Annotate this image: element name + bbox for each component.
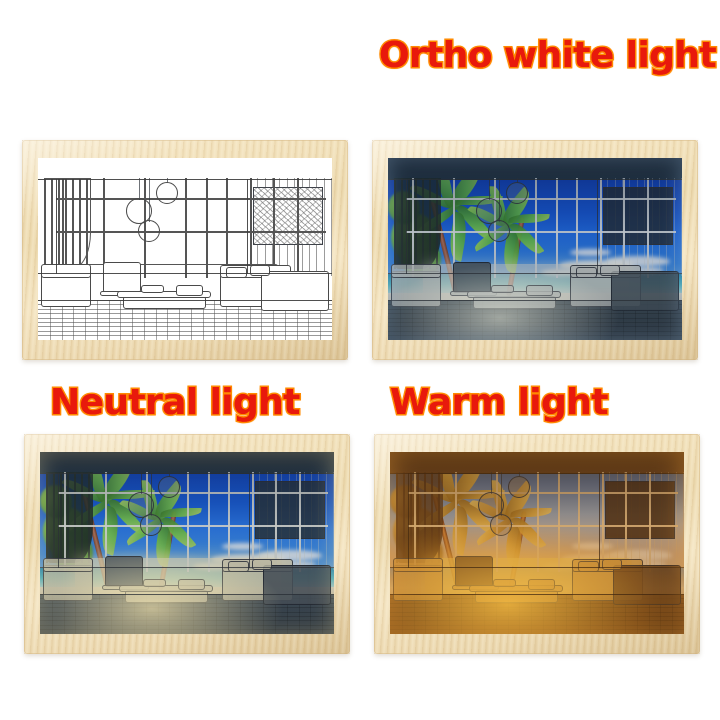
floor-plank xyxy=(38,335,332,336)
floor-plank xyxy=(38,331,332,332)
floor-plank xyxy=(388,322,682,323)
pendant-cord xyxy=(151,472,152,516)
window-mullion-horizontal xyxy=(58,525,329,527)
ceiling xyxy=(40,452,334,474)
window-mullion-vertical xyxy=(250,178,252,278)
floor-plank xyxy=(38,326,332,327)
frame-panel-warm xyxy=(390,452,684,634)
floor-seam xyxy=(111,594,112,634)
floor-plank xyxy=(38,313,332,314)
cushion-left xyxy=(228,561,249,572)
floor-seam xyxy=(461,594,462,634)
armchair-back xyxy=(393,558,443,573)
coffee-table xyxy=(125,590,207,603)
floor-plank xyxy=(388,313,682,314)
pendant-cord xyxy=(489,178,490,200)
window-mullion-vertical xyxy=(623,178,625,278)
sofa-dark xyxy=(611,271,679,311)
window-mullion-vertical xyxy=(208,472,210,572)
window-mullion-vertical xyxy=(625,472,627,572)
window-mullion-vertical xyxy=(299,472,301,572)
frame-panel-neutral xyxy=(40,452,334,634)
floor-seam xyxy=(216,594,217,634)
ottoman xyxy=(528,579,554,590)
window-mullion-vertical xyxy=(273,178,275,278)
sofa-dark xyxy=(613,565,681,605)
cushion-left xyxy=(226,267,247,278)
cushion-left xyxy=(578,561,599,572)
floor-plank xyxy=(40,616,334,617)
product-image-canvas: Ortho white light Ortho white light Neut… xyxy=(0,0,720,720)
ottoman xyxy=(526,285,552,296)
bowl xyxy=(141,285,165,292)
cushion-right xyxy=(250,265,271,276)
pendant-cord xyxy=(139,178,140,200)
window-mullion-vertical xyxy=(252,472,254,572)
window-mullion-vertical xyxy=(558,472,560,572)
pendant-cord xyxy=(499,178,500,222)
floor-seam xyxy=(120,300,121,340)
floor-plank xyxy=(388,318,682,319)
floor-plank xyxy=(390,625,684,626)
frame-panel-unlit xyxy=(38,158,332,340)
ceiling xyxy=(390,452,684,474)
pendant-cord xyxy=(501,472,502,516)
floor-plank xyxy=(390,620,684,621)
wall-art xyxy=(255,481,326,539)
label-neutral-light-fill: Neutral light xyxy=(50,385,300,421)
floor-seam xyxy=(214,300,215,340)
ottoman xyxy=(178,579,204,590)
sofa-dark xyxy=(261,271,329,311)
coffee-table xyxy=(475,590,557,603)
pendant-lamp xyxy=(488,220,510,242)
frame-panel-ortho-white xyxy=(388,158,682,340)
window-mullion-vertical xyxy=(206,178,208,278)
pendant-cord xyxy=(491,472,492,494)
pendant-lamp xyxy=(508,476,530,498)
window-mullion-horizontal xyxy=(58,492,329,494)
coffee-table xyxy=(123,296,205,309)
floor-plank xyxy=(390,612,684,613)
floor-plank xyxy=(40,625,334,626)
window-mullion-horizontal xyxy=(408,492,679,494)
floor-seam xyxy=(97,300,98,340)
living-room-scene-ortho-white xyxy=(388,158,682,340)
window-mullion-vertical xyxy=(297,178,299,278)
window-mullion-vertical xyxy=(647,178,649,278)
lounge-chair xyxy=(455,556,493,587)
armchair-back xyxy=(41,264,91,279)
window-mullion-horizontal xyxy=(406,198,677,200)
floor-plank xyxy=(388,335,682,336)
armchair-back xyxy=(43,558,93,573)
floor-seam xyxy=(449,594,450,634)
ceiling xyxy=(38,158,332,180)
floor-plank xyxy=(40,607,334,608)
bowl xyxy=(143,579,167,586)
floor-plank xyxy=(390,607,684,608)
window-mullion-vertical xyxy=(275,472,277,572)
living-room-scene-neutral xyxy=(40,452,334,634)
floor-seam xyxy=(109,300,110,340)
sofa-dark xyxy=(263,565,331,605)
window-mullion-vertical xyxy=(602,472,604,572)
pendant-cord xyxy=(141,472,142,494)
cushion-right xyxy=(600,265,621,276)
floor-plank xyxy=(40,629,334,630)
window-mullion-horizontal xyxy=(406,231,677,233)
pendant-lamp xyxy=(156,182,178,204)
window-mullion-vertical xyxy=(187,472,189,572)
living-room-scene-lineart xyxy=(38,158,332,340)
coffee-table xyxy=(473,296,555,309)
curtain xyxy=(394,178,441,269)
picture-frame-neutral[interactable] xyxy=(24,434,350,654)
floor-plank xyxy=(38,322,332,323)
window-mullion-horizontal xyxy=(408,525,679,527)
pendant-lamp xyxy=(490,514,512,536)
cushion-right xyxy=(252,559,273,570)
pendant-lamp xyxy=(506,182,528,204)
pendant-cord xyxy=(149,178,150,222)
floor-seam xyxy=(564,300,565,340)
wall-art xyxy=(605,481,676,539)
floor-plank xyxy=(388,326,682,327)
window-mullion-horizontal xyxy=(56,231,327,233)
window-mullion-vertical xyxy=(649,472,651,572)
curtain xyxy=(44,178,91,269)
curtain xyxy=(396,472,443,563)
label-ortho-white-light-fill: Ortho white light xyxy=(379,38,716,74)
floor-plank xyxy=(390,616,684,617)
floor-seam xyxy=(472,594,473,634)
floor-seam xyxy=(470,300,471,340)
pendant-lamp xyxy=(140,514,162,536)
pendant-lamp xyxy=(158,476,180,498)
window-mullion-horizontal xyxy=(56,198,327,200)
wall-art xyxy=(603,187,674,245)
picture-frame-ortho-white[interactable] xyxy=(372,140,698,360)
floor-seam xyxy=(459,300,460,340)
floor-plank xyxy=(390,629,684,630)
floor-plank xyxy=(38,318,332,319)
window-mullion-vertical xyxy=(537,472,539,572)
window-mullion-vertical xyxy=(576,178,578,278)
lounge-chair xyxy=(105,556,143,587)
armchair-back xyxy=(391,264,441,279)
curtain xyxy=(46,472,93,563)
living-room-scene-warm xyxy=(390,452,684,634)
label-warm-light-fill: Warm light xyxy=(390,385,608,421)
floor-seam xyxy=(99,594,100,634)
floor-plank xyxy=(40,620,334,621)
window-mullion-vertical xyxy=(228,472,230,572)
floor-plank xyxy=(40,612,334,613)
window-mullion-vertical xyxy=(185,178,187,278)
picture-frame-unlit[interactable] xyxy=(22,140,348,360)
cushion-right xyxy=(602,559,623,570)
window-mullion-vertical xyxy=(578,472,580,572)
floor-plank xyxy=(388,331,682,332)
lounge-chair xyxy=(453,262,491,293)
window-mullion-vertical xyxy=(556,178,558,278)
floor-seam xyxy=(122,594,123,634)
bowl xyxy=(491,285,515,292)
ceiling xyxy=(388,158,682,180)
pendant-lamp xyxy=(138,220,160,242)
window-mullion-vertical xyxy=(535,178,537,278)
floor-seam xyxy=(566,594,567,634)
lounge-chair xyxy=(103,262,141,293)
floor-seam xyxy=(447,300,448,340)
cushion-left xyxy=(576,267,597,278)
window-mullion-vertical xyxy=(600,178,602,278)
picture-frame-warm[interactable] xyxy=(374,434,700,654)
wall-art xyxy=(253,187,324,245)
ottoman xyxy=(176,285,202,296)
window-mullion-vertical xyxy=(226,178,228,278)
bowl xyxy=(493,579,517,586)
